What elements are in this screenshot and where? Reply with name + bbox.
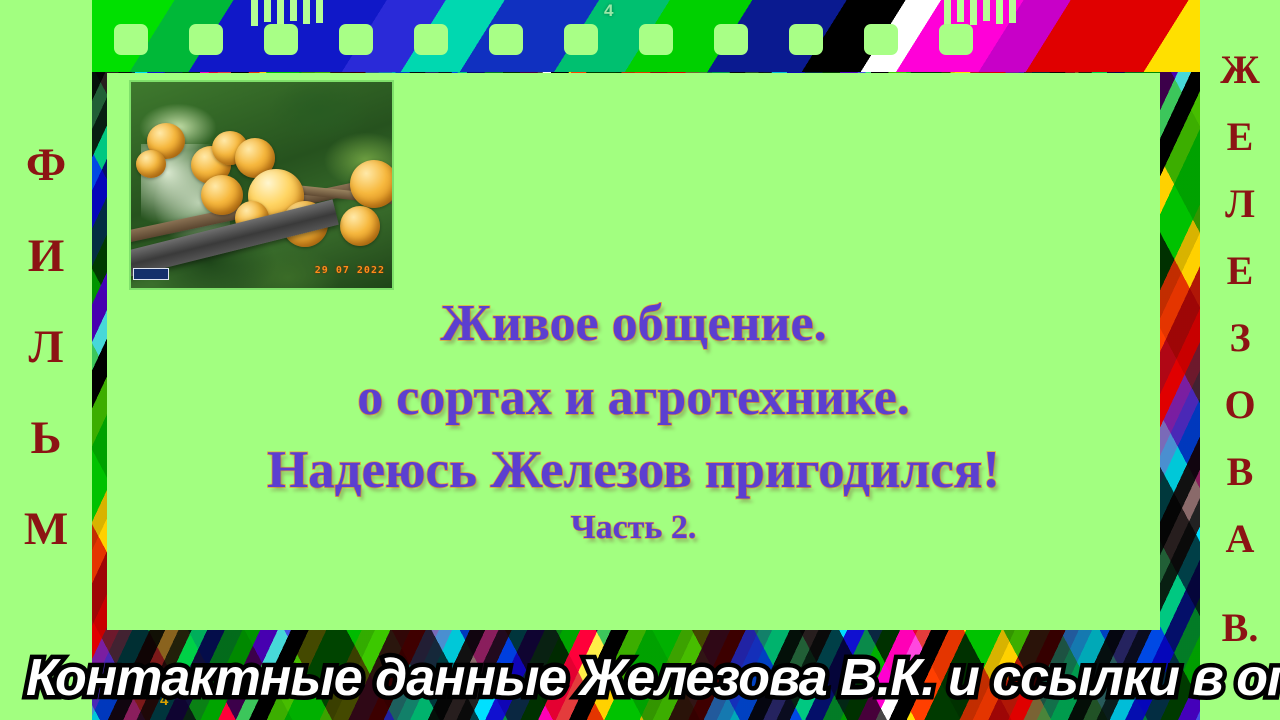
- film-tick: [983, 0, 990, 21]
- sprocket-hole: [639, 24, 673, 55]
- left-letter-1: Ф: [26, 120, 66, 211]
- left-letter-5: М: [24, 484, 68, 575]
- photo-watermark-tag: [133, 268, 169, 280]
- photo-apricot: [350, 160, 394, 208]
- right-letter-1: Ж: [1220, 36, 1260, 103]
- sprocket-hole: [114, 24, 148, 55]
- sprocket-hole: [714, 24, 748, 55]
- film-tick: [1009, 0, 1016, 23]
- right-letter-4: Е: [1227, 237, 1254, 304]
- left-letter-3: Л: [28, 302, 63, 393]
- sprocket-hole: [264, 24, 298, 55]
- film-tick-group-left: [251, 0, 323, 26]
- photo-apricot: [136, 150, 166, 178]
- right-letter-8: А: [1226, 505, 1255, 572]
- caption-bar: Контактные данные Железова В.К. и ссылки…: [0, 636, 1280, 720]
- film-strip: 4: [92, 0, 1200, 72]
- left-vertical-word: Ф И Л Ь М: [0, 120, 92, 575]
- film-tick: [316, 0, 323, 23]
- film-tick: [996, 0, 1003, 24]
- sprocket-hole: [939, 24, 973, 55]
- right-letter-5: З: [1229, 304, 1250, 371]
- right-letter-7: В: [1227, 438, 1254, 505]
- film-tick: [970, 0, 977, 25]
- left-side-column: Ф И Л Ь М: [0, 0, 92, 720]
- film-tick: [290, 0, 297, 21]
- film-tick: [277, 0, 284, 25]
- slide-canvas: Ф И Л Ь М Ж Е Л Е З О В А В.: [0, 0, 1280, 720]
- caption-text: Контактные данные Железова В.К. и ссылки…: [26, 648, 1280, 708]
- sprocket-hole: [339, 24, 373, 55]
- sprocket-hole: [789, 24, 823, 55]
- left-letter-4: Ь: [30, 393, 61, 484]
- sprocket-hole: [489, 24, 523, 55]
- right-side-column: Ж Е Л Е З О В А В.: [1200, 0, 1280, 720]
- left-letter-2: И: [28, 211, 65, 302]
- right-letter-6: О: [1224, 371, 1255, 438]
- photo-date-stamp: 29 07 2022: [315, 265, 385, 276]
- sprocket-hole: [189, 24, 223, 55]
- right-letter-2: Е: [1227, 103, 1254, 170]
- sprocket-hole: [864, 24, 898, 55]
- sprocket-hole-row: [114, 24, 973, 55]
- frame-number-label: 4: [604, 1, 613, 21]
- film-tick: [957, 0, 964, 22]
- right-letter-3: Л: [1225, 170, 1255, 237]
- sprocket-hole: [564, 24, 598, 55]
- photo-apricot: [340, 206, 380, 246]
- sprocket-hole: [414, 24, 448, 55]
- film-tick: [264, 0, 271, 22]
- film-tick-group-right: [944, 0, 1016, 26]
- film-tick: [251, 0, 258, 26]
- apricot-photo: 29 07 2022: [129, 80, 394, 290]
- right-vertical-word: Ж Е Л Е З О В А В.: [1200, 36, 1280, 661]
- film-tick: [944, 0, 951, 26]
- film-tick: [303, 0, 310, 24]
